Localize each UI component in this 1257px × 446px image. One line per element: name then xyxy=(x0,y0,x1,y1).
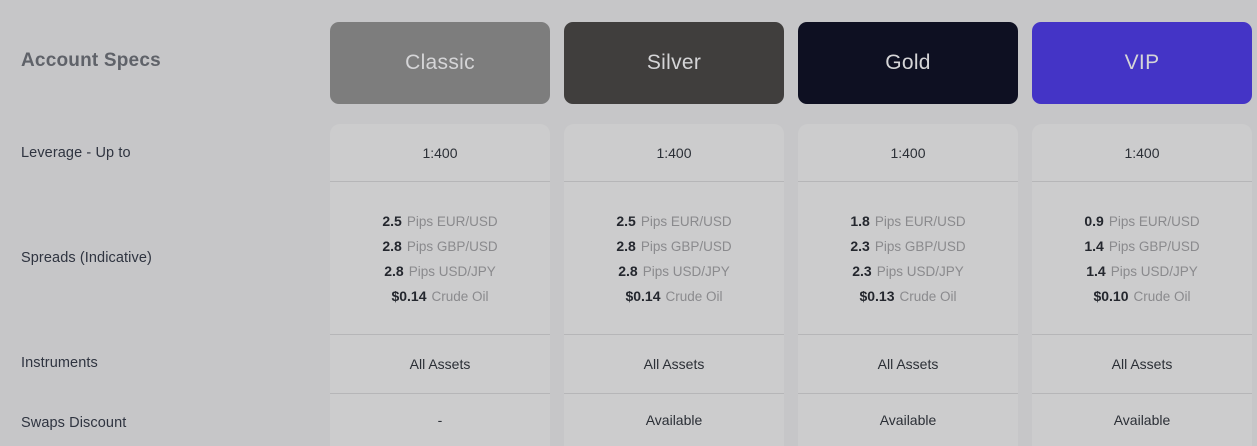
spread-value: $0.14 xyxy=(391,288,426,304)
plan-values-classic: 1:400 2.5 Pips EUR/USD 2.8 Pips GBP/USD … xyxy=(330,124,550,446)
spread-unit: Pips EUR/USD xyxy=(1109,214,1200,229)
spread-unit: Crude Oil xyxy=(1134,289,1191,304)
spread-value: 2.8 xyxy=(384,263,403,279)
cell-leverage: 1:400 xyxy=(330,124,550,181)
cell-spreads: 2.5 Pips EUR/USD 2.8 Pips GBP/USD 2.8 Pi… xyxy=(564,181,784,334)
cell-instruments: All Assets xyxy=(564,334,784,393)
spread-value: 2.3 xyxy=(852,263,871,279)
plan-values-vip: 1:400 0.9 Pips EUR/USD 1.4 Pips GBP/USD … xyxy=(1032,124,1252,446)
spread-value: 2.5 xyxy=(616,213,635,229)
row-label-instruments: Instruments xyxy=(21,355,98,371)
spread-value: 1.8 xyxy=(850,213,869,229)
plan-values-gold: 1:400 1.8 Pips EUR/USD 2.3 Pips GBP/USD … xyxy=(798,124,1018,446)
spread-line: 1.8 Pips EUR/USD xyxy=(850,213,965,229)
spread-unit: Pips USD/JPY xyxy=(877,264,964,279)
plan-columns: Classic 1:400 2.5 Pips EUR/USD 2.8 Pips … xyxy=(330,0,1252,446)
spread-unit: Pips USD/JPY xyxy=(643,264,730,279)
spread-line: 2.8 Pips GBP/USD xyxy=(382,238,497,254)
spread-line: 2.5 Pips EUR/USD xyxy=(382,213,497,229)
cell-instruments: All Assets xyxy=(798,334,1018,393)
account-specs-comparison-table: Account Specs Leverage - Up to Spreads (… xyxy=(0,0,1257,446)
spread-value: 2.8 xyxy=(618,263,637,279)
row-label-swaps-discount: Swaps Discount xyxy=(21,415,126,431)
spread-unit: Crude Oil xyxy=(900,289,957,304)
plan-name-label: VIP xyxy=(1125,51,1160,75)
cell-swaps-discount: - xyxy=(330,393,550,446)
spread-unit: Pips USD/JPY xyxy=(409,264,496,279)
spread-unit: Pips EUR/USD xyxy=(875,214,966,229)
spread-unit: Pips EUR/USD xyxy=(407,214,498,229)
spread-line: $0.14 Crude Oil xyxy=(625,288,722,304)
spread-line: 2.8 Pips GBP/USD xyxy=(616,238,731,254)
cell-leverage: 1:400 xyxy=(1032,124,1252,181)
cell-swaps-discount: Available xyxy=(798,393,1018,446)
plan-name-label: Classic xyxy=(405,51,475,75)
row-label-column: Account Specs Leverage - Up to Spreads (… xyxy=(0,0,330,446)
cell-instruments: All Assets xyxy=(330,334,550,393)
spread-unit: Crude Oil xyxy=(432,289,489,304)
page-title: Account Specs xyxy=(21,50,161,72)
spread-line: $0.10 Crude Oil xyxy=(1093,288,1190,304)
spread-line: $0.14 Crude Oil xyxy=(391,288,488,304)
plan-column-silver: Silver 1:400 2.5 Pips EUR/USD 2.8 Pips G… xyxy=(564,0,784,446)
spread-unit: Pips GBP/USD xyxy=(407,239,498,254)
cell-leverage: 1:400 xyxy=(564,124,784,181)
plan-header-vip[interactable]: VIP xyxy=(1032,22,1252,104)
spread-value: 0.9 xyxy=(1084,213,1103,229)
plan-column-classic: Classic 1:400 2.5 Pips EUR/USD 2.8 Pips … xyxy=(330,0,550,446)
spread-value: 2.8 xyxy=(382,238,401,254)
plan-column-vip: VIP 1:400 0.9 Pips EUR/USD 1.4 Pips GBP/… xyxy=(1032,0,1252,446)
plan-header-classic[interactable]: Classic xyxy=(330,22,550,104)
spread-line: 0.9 Pips EUR/USD xyxy=(1084,213,1199,229)
spread-unit: Pips GBP/USD xyxy=(875,239,966,254)
spread-unit: Pips EUR/USD xyxy=(641,214,732,229)
spread-line: $0.13 Crude Oil xyxy=(859,288,956,304)
spread-value: 1.4 xyxy=(1086,263,1105,279)
spread-line: 2.5 Pips EUR/USD xyxy=(616,213,731,229)
row-label-leverage: Leverage - Up to xyxy=(21,145,131,161)
spread-line: 2.8 Pips USD/JPY xyxy=(618,263,730,279)
plan-name-label: Silver xyxy=(647,51,701,75)
cell-leverage: 1:400 xyxy=(798,124,1018,181)
spread-line: 1.4 Pips GBP/USD xyxy=(1084,238,1199,254)
spread-value: 2.5 xyxy=(382,213,401,229)
cell-swaps-discount: Available xyxy=(564,393,784,446)
spread-line: 2.3 Pips GBP/USD xyxy=(850,238,965,254)
cell-swaps-discount: Available xyxy=(1032,393,1252,446)
spread-value: 1.4 xyxy=(1084,238,1103,254)
spread-unit: Pips GBP/USD xyxy=(1109,239,1200,254)
plan-header-gold[interactable]: Gold xyxy=(798,22,1018,104)
cell-spreads: 0.9 Pips EUR/USD 1.4 Pips GBP/USD 1.4 Pi… xyxy=(1032,181,1252,334)
spread-unit: Crude Oil xyxy=(666,289,723,304)
spread-line: 1.4 Pips USD/JPY xyxy=(1086,263,1198,279)
row-label-spreads: Spreads (Indicative) xyxy=(21,250,152,266)
spread-value: $0.14 xyxy=(625,288,660,304)
spread-unit: Pips GBP/USD xyxy=(641,239,732,254)
spread-unit: Pips USD/JPY xyxy=(1111,264,1198,279)
spread-value: 2.3 xyxy=(850,238,869,254)
cell-spreads: 2.5 Pips EUR/USD 2.8 Pips GBP/USD 2.8 Pi… xyxy=(330,181,550,334)
spread-line: 2.3 Pips USD/JPY xyxy=(852,263,964,279)
cell-spreads: 1.8 Pips EUR/USD 2.3 Pips GBP/USD 2.3 Pi… xyxy=(798,181,1018,334)
plan-values-silver: 1:400 2.5 Pips EUR/USD 2.8 Pips GBP/USD … xyxy=(564,124,784,446)
plan-column-gold: Gold 1:400 1.8 Pips EUR/USD 2.3 Pips GBP… xyxy=(798,0,1018,446)
plan-header-silver[interactable]: Silver xyxy=(564,22,784,104)
spread-line: 2.8 Pips USD/JPY xyxy=(384,263,496,279)
spread-value: $0.10 xyxy=(1093,288,1128,304)
plan-name-label: Gold xyxy=(885,51,931,75)
spread-value: 2.8 xyxy=(616,238,635,254)
cell-instruments: All Assets xyxy=(1032,334,1252,393)
spread-value: $0.13 xyxy=(859,288,894,304)
